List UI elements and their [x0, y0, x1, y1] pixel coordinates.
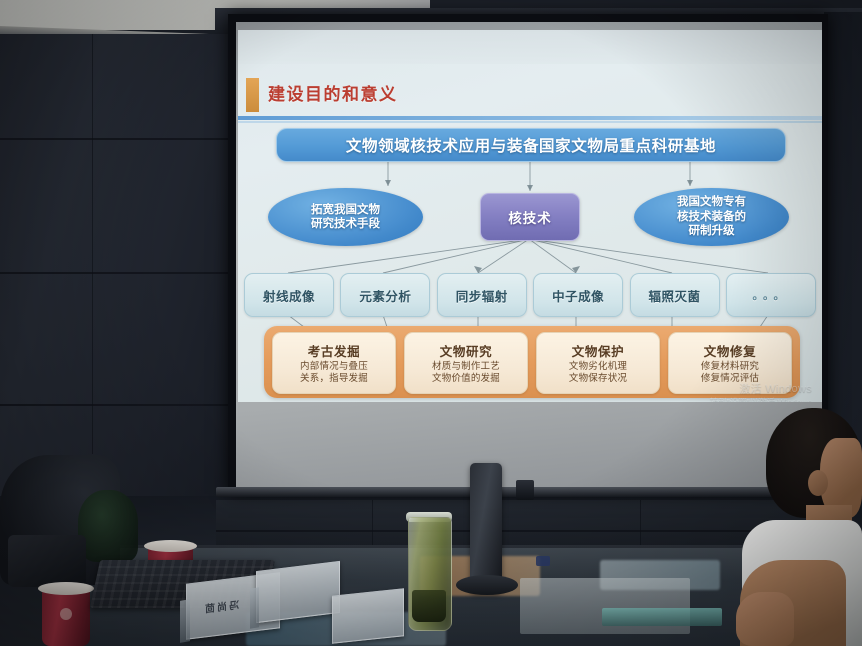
conference-microphone[interactable]: [470, 463, 502, 593]
paper-cup-rim: [38, 582, 94, 595]
person-ear: [808, 470, 828, 496]
diagram-branch-left: 拓宽我国文物 研究技术手段: [268, 188, 423, 246]
wall-seam: [0, 138, 232, 140]
application-detail: 材质与制作工艺 文物价值的发掘: [432, 361, 500, 385]
title-divider: [238, 116, 822, 120]
application-detail: 文物劣化机理 文物保存状况: [569, 361, 627, 385]
placard-stand: [250, 587, 259, 629]
application-heading: 考古发掘: [308, 341, 360, 360]
watermark-line-1: 激活 Windows: [710, 382, 812, 397]
technology-row: 射线成像 元素分析 同步辐射 中子成像 辐照灭菌 。。。: [244, 273, 816, 315]
tech-box-irradiation-sterilization: 辐照灭菌: [630, 273, 720, 317]
application-card-research: 文物研究 材质与制作工艺 文物价值的发掘: [404, 332, 528, 394]
wall-seam: [0, 404, 232, 406]
tech-box-ellipsis: 。。。: [726, 273, 816, 317]
wall-left: [0, 34, 232, 504]
application-heading: 文物修复: [704, 341, 756, 360]
windows-activation-watermark: 激活 Windows 转到"设置"以激活 Windows: [710, 382, 812, 402]
application-detail: 内部情况与叠压 关系，指导发掘: [300, 361, 368, 385]
conference-room-photo: 建设目的和意义: [0, 0, 862, 646]
tech-box-element-analysis: 元素分析: [340, 273, 430, 317]
application-card-archaeology: 考古发掘 内部情况与叠压 关系，指导发掘: [272, 332, 396, 394]
diagram-root-node: 文物领域核技术应用与装备国家文物局重点科研基地: [276, 128, 786, 162]
pen: [536, 556, 550, 566]
diagram-core-node: 核技术: [480, 193, 580, 241]
slide-title: 建设目的和意义: [268, 80, 398, 105]
potted-plant: [78, 490, 138, 562]
paper-cup-rim: [144, 540, 197, 552]
placard-name-text: 冯尚茴: [203, 596, 239, 615]
application-heading: 文物保护: [572, 341, 624, 360]
wall-seam: [216, 530, 836, 532]
bag: [8, 535, 86, 587]
watermark-line-2: 转到"设置"以激活 Windows: [710, 397, 812, 402]
diagram-branch-right: 我国文物专有 核技术装备的 研制升级: [634, 188, 789, 246]
microphone-base: [456, 575, 518, 595]
wall-seam: [0, 272, 232, 274]
person-hand: [736, 592, 794, 646]
name-placard: [332, 588, 404, 644]
name-placard: [256, 561, 340, 623]
branch-left-label: 拓宽我国文物 研究技术手段: [311, 203, 380, 232]
tech-box-xray-imaging: 射线成像: [244, 273, 334, 317]
placard-stand: [180, 599, 190, 643]
tea-leaves: [412, 590, 446, 622]
slide-top-band: [238, 30, 822, 64]
notebook-spine: [602, 608, 722, 626]
tech-box-synchrotron: 同步辐射: [437, 273, 527, 317]
branch-right-label: 我国文物专有 核技术装备的 研制升级: [677, 195, 746, 238]
application-heading: 文物研究: [440, 341, 492, 360]
wall-groove: [92, 34, 93, 454]
paper-cup-logo: [60, 608, 72, 620]
screen-bar-knob: [516, 480, 534, 500]
title-accent-bar: [246, 78, 259, 112]
application-card-protection: 文物保护 文物劣化机理 文物保存状况: [536, 332, 660, 394]
presentation-slide: 建设目的和意义: [238, 30, 822, 402]
title-divider-secondary: [238, 121, 822, 123]
tech-box-neutron-imaging: 中子成像: [533, 273, 623, 317]
